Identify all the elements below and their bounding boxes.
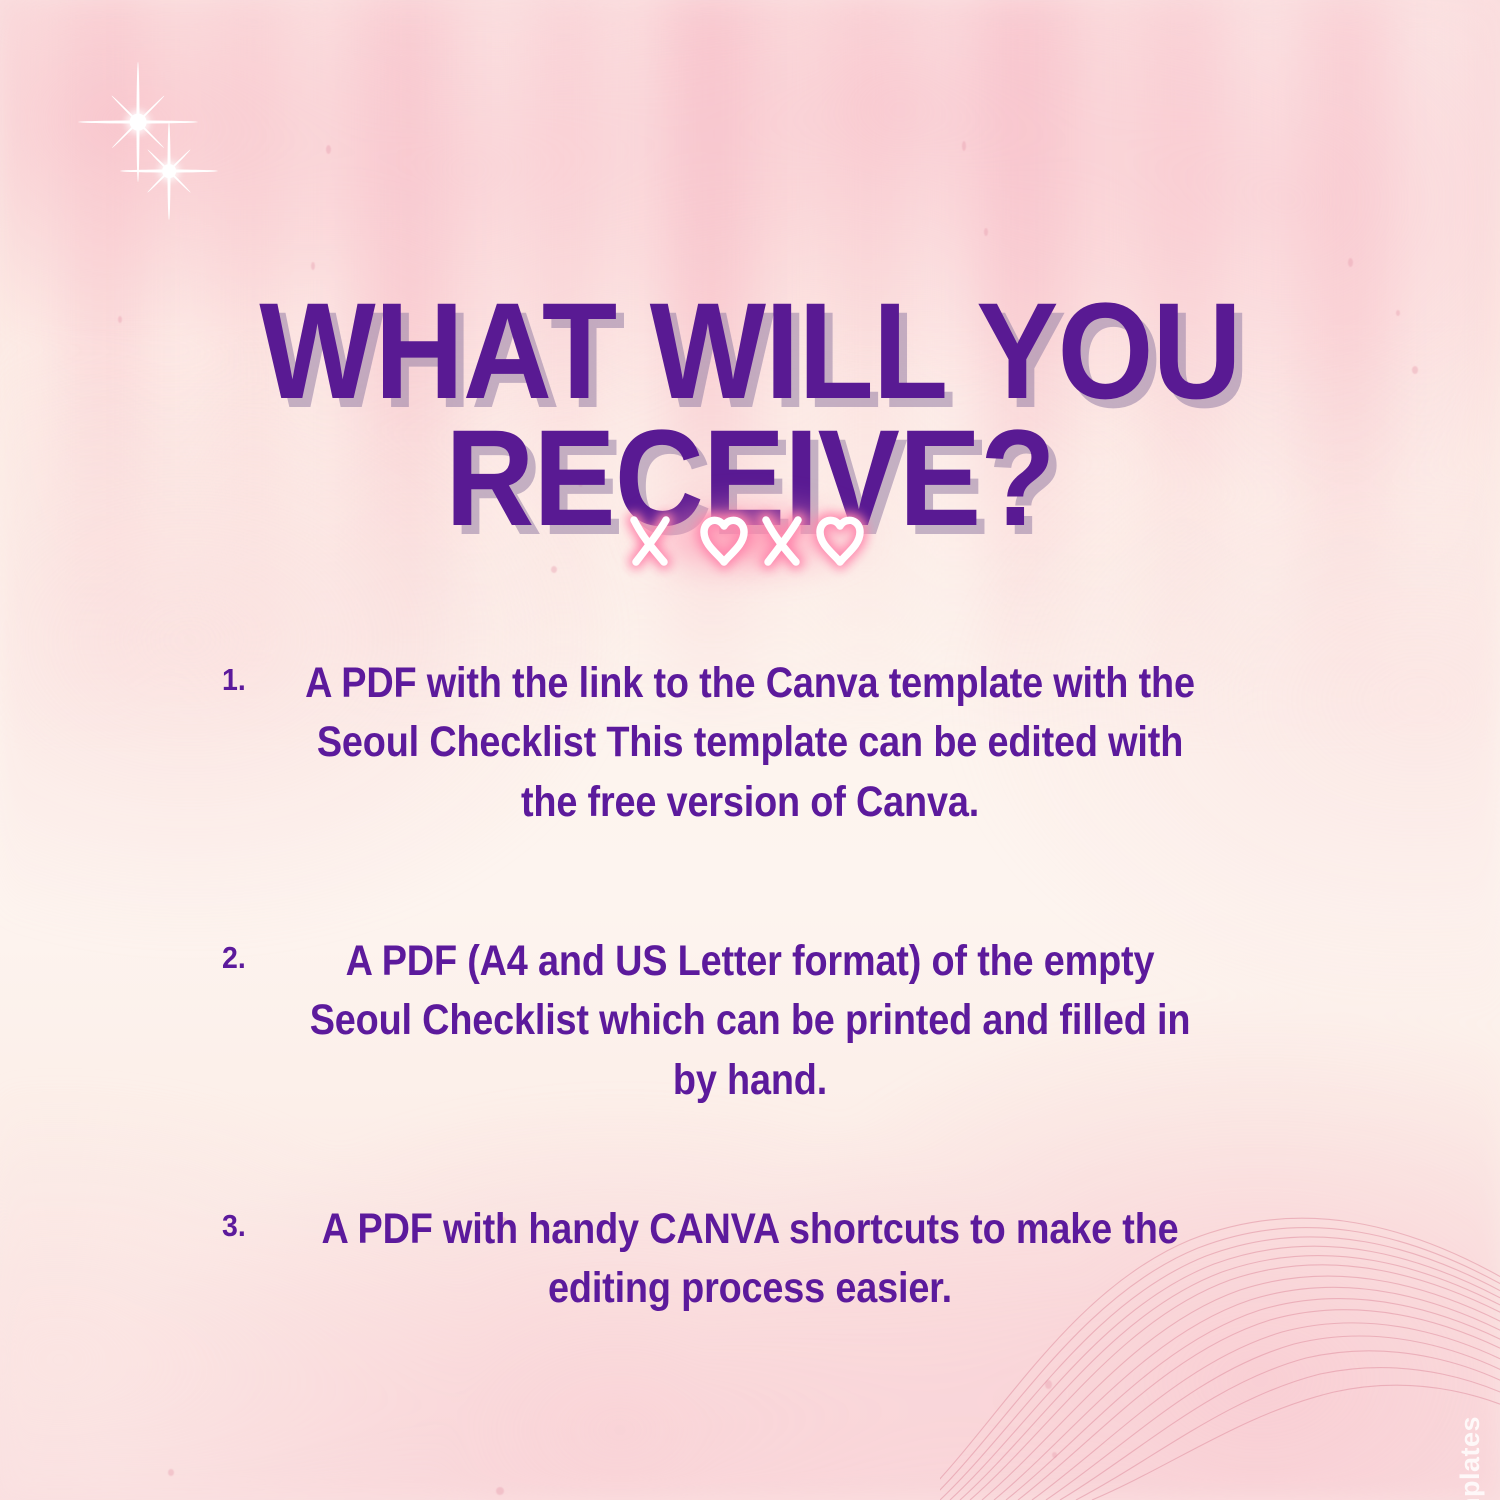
background-speck <box>326 145 331 154</box>
list-item-text: A PDF with handy CANVA shortcuts to make… <box>275 1200 1225 1319</box>
poster-canvas: WHAT WILL YOU RECEIVE? <box>0 0 1500 1500</box>
background-speck <box>311 262 315 270</box>
list-item-number: 1. <box>222 664 246 695</box>
list-item-number: 2. <box>222 942 246 973</box>
list-item: 2. A PDF (A4 and US Letter format) of th… <box>210 904 1290 1182</box>
list-item: 1. A PDF with the link to the Canva temp… <box>210 654 1290 904</box>
deliverables-list: 1. A PDF with the link to the Canva temp… <box>0 654 1500 1420</box>
background-speck <box>984 228 988 236</box>
background-speck <box>1052 1452 1057 1458</box>
background-speck <box>1348 258 1353 267</box>
xoxo-neon-icon <box>620 492 880 584</box>
list-item-text: A PDF (A4 and US Letter format) of the e… <box>275 932 1225 1110</box>
list-item-number: 3. <box>222 1210 246 1241</box>
list-item-text: A PDF with the link to the Canva templat… <box>275 654 1225 832</box>
background-speck <box>962 141 966 151</box>
background-speck <box>551 566 557 573</box>
watermark-text: SumiTemplates <box>1455 1416 1486 1500</box>
background-speck <box>496 1487 504 1495</box>
xoxo-neon-decoration <box>620 492 880 584</box>
list-item: 3. A PDF with handy CANVA shortcuts to m… <box>210 1182 1290 1420</box>
background-speck <box>168 1469 174 1476</box>
